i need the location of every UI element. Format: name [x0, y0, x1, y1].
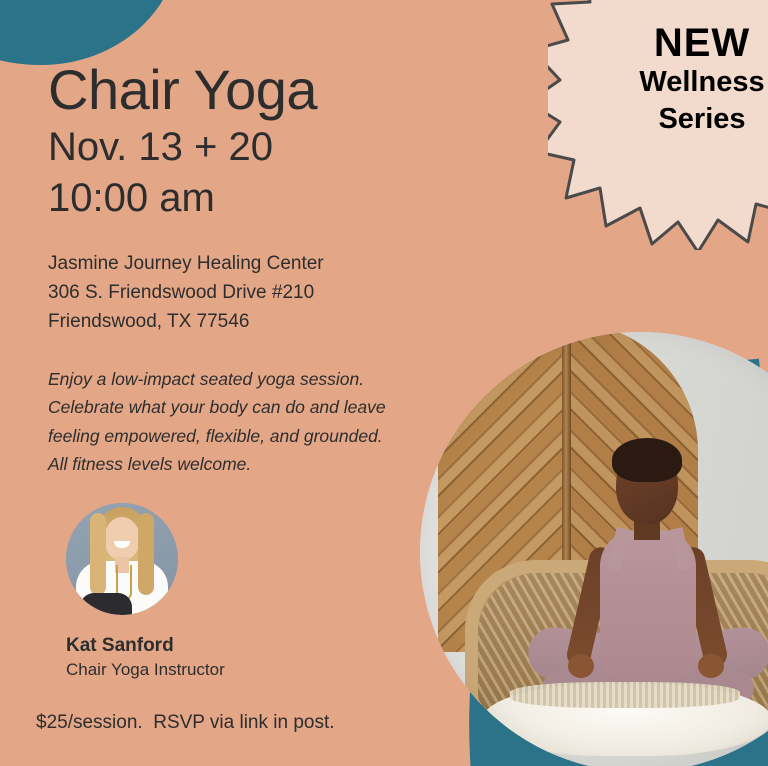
avatar-face: [104, 517, 140, 561]
badge-line-new: NEW: [618, 22, 768, 64]
main-content: Chair Yoga Nov. 13 + 20 10:00 am Jasmine…: [48, 62, 448, 478]
instructor-role: Chair Yoga Instructor: [66, 660, 366, 680]
price-and-rsvp: $25/session. RSVP via link in post.: [36, 712, 335, 734]
description-line-4: All fitness levels welcome.: [48, 450, 448, 478]
starburst-badge: NEW Wellness Series: [548, 0, 768, 250]
avatar-hair-strand-right: [138, 513, 154, 595]
instructor-name: Kat Sanford: [66, 635, 366, 657]
avatar-dark-object: [80, 593, 132, 615]
instructor-block: Kat Sanford Chair Yoga Instructor: [66, 503, 366, 680]
event-title: Chair Yoga: [48, 62, 448, 118]
event-dates: Nov. 13 + 20: [48, 122, 448, 173]
venue-name: Jasmine Journey Healing Center: [48, 250, 448, 279]
badge-line-series: Series: [618, 101, 768, 138]
venue-street: 306 S. Friendswood Drive #210: [48, 279, 448, 308]
event-time: 10:00 am: [48, 173, 448, 224]
description-line-1: Enjoy a low-impact seated yoga session.: [48, 365, 448, 393]
teal-blob-top-left: [0, 0, 180, 65]
avatar-hair-strand-left: [90, 513, 106, 595]
description-line-2: Celebrate what your body can do and leav…: [48, 393, 448, 421]
badge-line-wellness: Wellness: [618, 64, 768, 101]
badge-text-block: NEW Wellness Series: [618, 22, 768, 138]
description-line-3: feeling empowered, flexible, and grounde…: [48, 422, 448, 450]
event-description: Enjoy a low-impact seated yoga session. …: [48, 365, 448, 478]
venue-city-state-zip: Friendswood, TX 77546: [48, 308, 448, 337]
flyer-canvas: NEW Wellness Series Chair Yoga Nov. 13 +…: [0, 0, 768, 766]
instructor-avatar: [66, 503, 178, 615]
venue-address: Jasmine Journey Healing Center 306 S. Fr…: [48, 250, 448, 337]
main-photo: [420, 332, 768, 766]
